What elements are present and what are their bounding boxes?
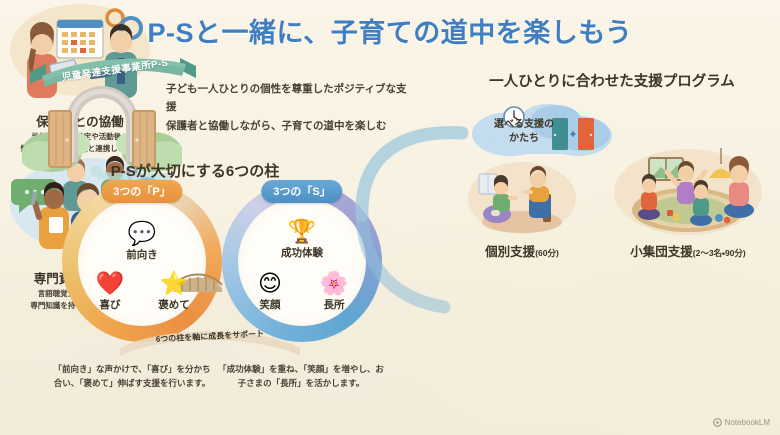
program-detail: (60分) bbox=[535, 248, 559, 258]
pillar-item-maemuki: 💬 前向き bbox=[114, 220, 170, 262]
pillar-item-label: 長所 bbox=[306, 297, 362, 312]
flower-icon: 🌸 bbox=[306, 270, 362, 296]
pillar-item-label: 成功体験 bbox=[274, 245, 330, 260]
pillar-item-egao: 😊 笑顔 bbox=[242, 270, 298, 312]
steps-flag-icon: 🏆 bbox=[274, 218, 330, 244]
pillar-badge-p: 3つの「P」 bbox=[101, 180, 182, 203]
choice-cloud-line-1: 選べる支援の bbox=[486, 118, 562, 132]
one-on-one-session-illustration bbox=[462, 160, 582, 241]
program-name: 個別支援 bbox=[485, 245, 535, 259]
pillar-item-label: 喜び bbox=[82, 297, 138, 312]
pillar-item-label: 褒めて bbox=[146, 297, 202, 312]
pillar-caption-s: 「成功体験」を重ね、「笑顔」を増やし、お子さまの「長所」を活かします。 bbox=[216, 362, 386, 390]
star-icon: ⭐ bbox=[146, 270, 202, 296]
choice-cloud-label: 選べる支援の かたち bbox=[486, 118, 562, 145]
choice-cloud-line-2: かたち bbox=[486, 132, 562, 146]
program-card-group: 小集団支援(2〜3名・90分) bbox=[608, 148, 768, 260]
pillar-item-label: 前向き bbox=[114, 247, 170, 262]
growth-support-ribbon: 6つの柱を軸に成長をサポート bbox=[120, 322, 300, 358]
pillar-group-p: 3つの「P」 💬 前向き ❤️ 喜び ⭐ 褒めて bbox=[62, 182, 222, 342]
small-group-circle-illustration bbox=[608, 148, 768, 241]
programs-heading: 一人ひとりに合わせた支援プログラム bbox=[452, 70, 772, 91]
program-card-individual: 個別支援(60分) bbox=[462, 160, 582, 260]
watermark-label: NotebookLM bbox=[725, 418, 770, 427]
program-label-individual: 個別支援(60分) bbox=[462, 241, 582, 260]
pillar-item-homete: ⭐ 褒めて bbox=[146, 270, 202, 312]
pillar-item-label: 笑顔 bbox=[242, 297, 298, 312]
program-name: 小集団支援 bbox=[630, 245, 693, 259]
child-smile-icon: 😊 bbox=[242, 270, 298, 296]
heart-smile-icon: ❤️ bbox=[82, 270, 138, 296]
pillar-item-yorokobi: ❤️ 喜び bbox=[82, 270, 138, 312]
notebooklm-icon bbox=[713, 418, 722, 427]
program-detail: (2〜3名・90分) bbox=[693, 248, 746, 258]
pillar-caption-p: 「前向き」な声かけで、「喜び」を分かち合い、「褒めて」伸ばす支援を行います。 bbox=[52, 362, 212, 390]
program-label-group: 小集団支援(2〜3名・90分) bbox=[608, 241, 768, 260]
pillar-badge-s: 3つの「S」 bbox=[261, 180, 342, 203]
pillar-item-seikou: 🏆 成功体験 bbox=[274, 218, 330, 260]
page-title: P-Sと一緒に、子育ての道中を楽しもう bbox=[0, 11, 780, 50]
watermark: NotebookLM bbox=[713, 418, 770, 427]
speech-smile-icon: 💬 bbox=[114, 220, 170, 246]
infographic-canvas: P-Sと一緒に、子育ての道中を楽しもう 児童発達支援事業所P-S bbox=[0, 0, 780, 435]
pillars-heading: P-Sが大切にする6つの柱 bbox=[40, 160, 350, 181]
pillar-item-chousho: 🌸 長所 bbox=[306, 270, 362, 312]
